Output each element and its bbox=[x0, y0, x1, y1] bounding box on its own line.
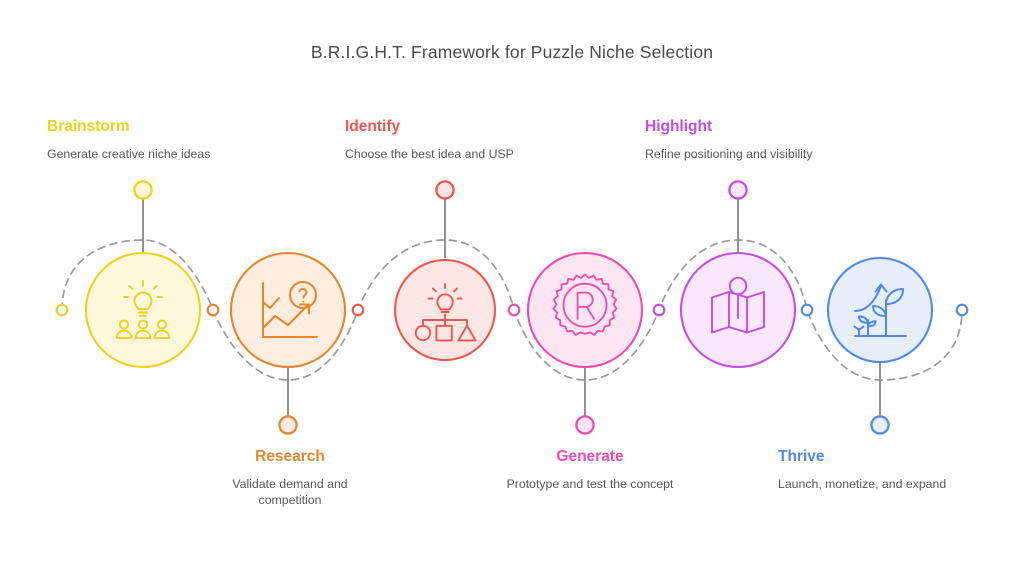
marker-dot-research[interactable] bbox=[279, 416, 296, 433]
step-title-research: Research bbox=[178, 448, 402, 465]
step-label-thrive: Thrive Launch, monetize, and expand bbox=[778, 448, 1002, 492]
step-label-research: Research Validate demand and competition bbox=[178, 448, 402, 508]
step-label-generate: Generate Prototype and test the concept bbox=[478, 448, 702, 492]
step-description-identify: Choose the best idea and USP bbox=[345, 146, 595, 162]
path-dot-highlight[interactable] bbox=[654, 305, 665, 316]
marker-dot-highlight[interactable] bbox=[729, 181, 746, 198]
step-description-highlight: Refine positioning and visibility bbox=[645, 146, 895, 162]
step-description-brainstorm: Generate creative niche ideas bbox=[47, 146, 297, 162]
infographic-canvas: B.R.I.G.H.T. Framework for Puzzle Niche … bbox=[0, 0, 1024, 566]
step-node-identify[interactable] bbox=[353, 181, 495, 360]
path-dot-identify[interactable] bbox=[353, 305, 364, 316]
path-dot-start[interactable] bbox=[57, 305, 68, 316]
path-dot-thrive[interactable] bbox=[802, 305, 813, 316]
step-title-highlight: Highlight bbox=[645, 118, 895, 135]
step-title-generate: Generate bbox=[478, 448, 702, 465]
step-description-generate: Prototype and test the concept bbox=[478, 476, 702, 492]
step-label-identify: Identify Choose the best idea and USP bbox=[345, 118, 595, 162]
path-dot-end[interactable] bbox=[957, 305, 968, 316]
step-label-highlight: Highlight Refine positioning and visibil… bbox=[645, 118, 895, 162]
step-title-brainstorm: Brainstorm bbox=[47, 118, 297, 135]
step-node-highlight[interactable] bbox=[654, 181, 795, 367]
step-label-brainstorm: Brainstorm Generate creative niche ideas bbox=[47, 118, 297, 162]
marker-dot-thrive[interactable] bbox=[871, 416, 888, 433]
path-dot-research[interactable] bbox=[208, 305, 219, 316]
marker-dot-identify[interactable] bbox=[436, 181, 453, 198]
step-node-brainstorm[interactable] bbox=[57, 181, 200, 367]
marker-dot-generate[interactable] bbox=[576, 416, 593, 433]
path-dot-generate[interactable] bbox=[509, 305, 520, 316]
step-title-thrive: Thrive bbox=[778, 448, 1002, 465]
step-description-thrive: Launch, monetize, and expand bbox=[778, 476, 1002, 492]
step-node-thrive[interactable] bbox=[802, 258, 968, 434]
step-node-research[interactable] bbox=[208, 253, 345, 434]
step-title-identify: Identify bbox=[345, 118, 595, 135]
step-node-generate[interactable] bbox=[509, 253, 642, 434]
step-description-research: Validate demand and competition bbox=[178, 476, 402, 508]
marker-dot-brainstorm[interactable] bbox=[134, 181, 151, 198]
